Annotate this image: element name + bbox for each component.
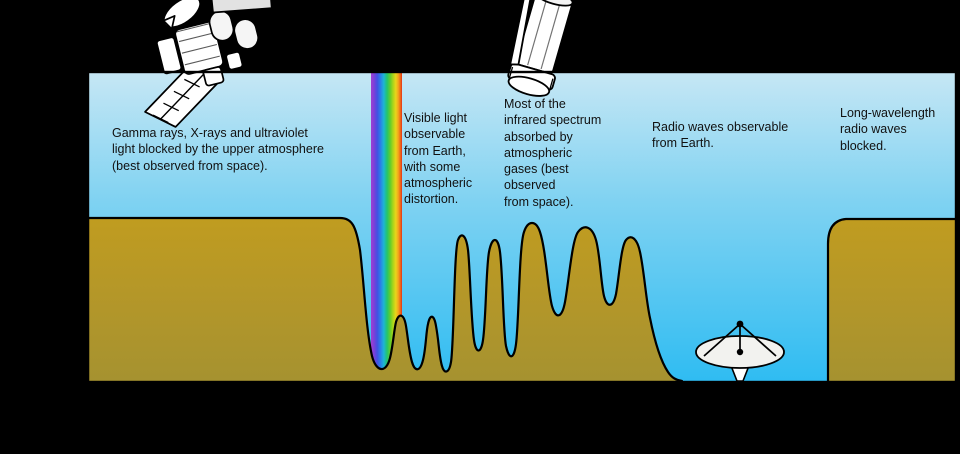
caption-infrared: Most of the infrared spectrum absorbed b… — [504, 96, 610, 210]
caption-visible-light: Visible light observable from Earth, wit… — [404, 110, 496, 208]
wavelength-axis — [88, 381, 956, 394]
long-wavelength-blocked-region — [828, 219, 958, 384]
diagram-canvas — [0, 0, 960, 454]
caption-radio-observable: Radio waves observable from Earth. — [652, 119, 828, 152]
atmospheric-opacity-diagram: Gamma rays, X-rays and ultraviolet light… — [0, 0, 960, 454]
caption-gamma-xray-uv: Gamma rays, X-rays and ultraviolet light… — [112, 125, 384, 174]
caption-long-wavelength-blocked: Long-wavelength radio waves blocked. — [840, 105, 960, 154]
